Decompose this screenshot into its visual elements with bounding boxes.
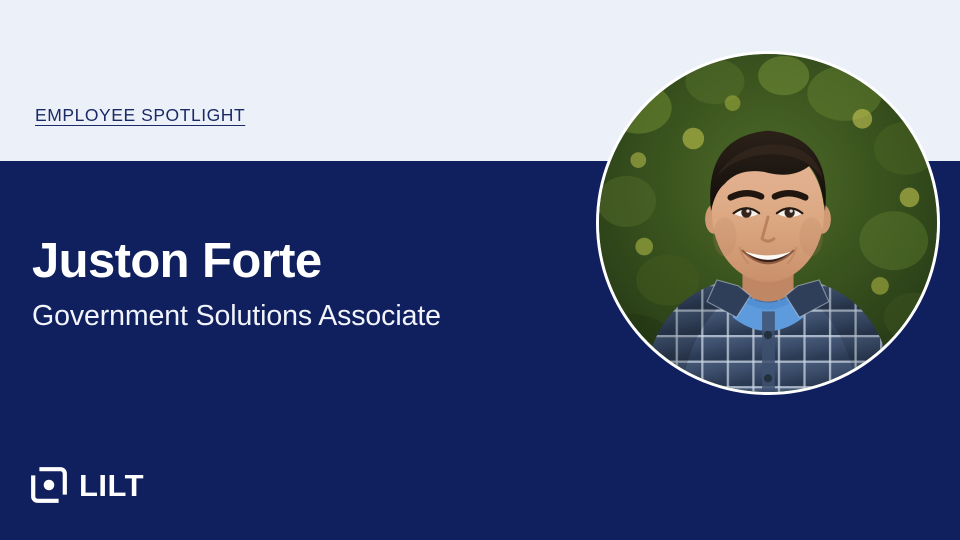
employee-role: Government Solutions Associate <box>32 300 441 333</box>
portrait-illustration <box>599 54 937 392</box>
employee-spotlight-slide: EMPLOYEE SPOTLIGHT Juston Forte Governme… <box>0 0 960 540</box>
employee-name: Juston Forte <box>32 236 322 287</box>
lilt-square-dot-icon <box>30 466 68 504</box>
employee-portrait <box>596 51 940 395</box>
eyebrow-label: EMPLOYEE SPOTLIGHT <box>35 105 245 126</box>
lilt-logo: LILT <box>30 466 144 504</box>
lilt-wordmark: LILT <box>79 470 144 501</box>
